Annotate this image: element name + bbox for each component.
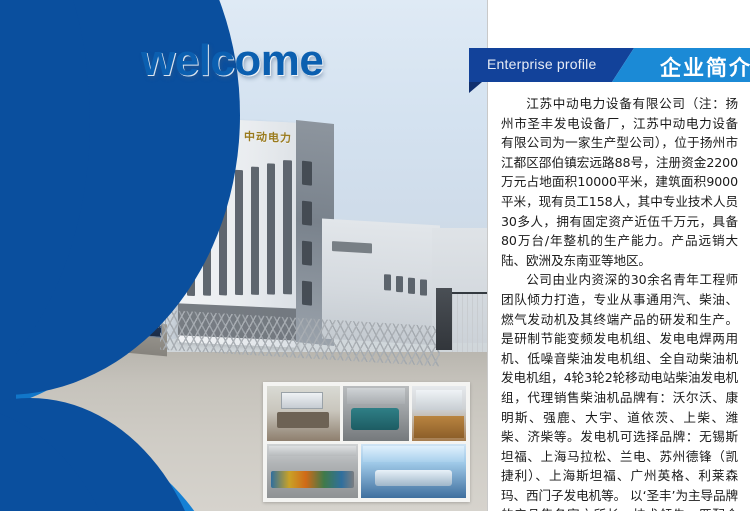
photo-collage	[263, 382, 470, 502]
generator-set-photo	[343, 386, 409, 441]
gate-post	[436, 288, 452, 350]
tab-enterprise-profile-en[interactable]: Enterprise profile	[469, 48, 634, 82]
gate-grid	[452, 292, 487, 352]
profile-paragraph-2: 公司由业内资深的30余名青年工程师团队倾力打造，专业从事通用汽、柴油、燃气发动机…	[501, 270, 738, 511]
welcome-headline: welcome	[141, 36, 323, 86]
conference-room-photo	[361, 444, 466, 498]
section-header-tab: Enterprise profile 企业简介	[469, 48, 750, 82]
profile-paragraph-1: 江苏中动电力设备有限公司（注：扬州市圣丰发电设备厂，江苏中动电力设备有限公司为一…	[501, 94, 738, 270]
page-root: 中动电力 江苏中动电力设备有限公司 Jiangsu Zhongdong Powe…	[0, 0, 750, 511]
tab-label-cn: 企业简介	[660, 52, 750, 82]
enterprise-profile-panel: Enterprise profile 企业简介 江苏中动电力设备有限公司（注：扬…	[487, 0, 750, 511]
tab-enterprise-profile-cn[interactable]: 企业简介	[612, 48, 750, 82]
company-profile-text: 江苏中动电力设备有限公司（注：扬州市圣丰发电设备厂，江苏中动电力设备有限公司为一…	[501, 94, 738, 511]
collage-row-top	[267, 386, 466, 441]
left-banner-panel: 中动电力 江苏中动电力设备有限公司 Jiangsu Zhongdong Powe…	[0, 0, 487, 511]
workshop-generators-photo	[267, 444, 358, 498]
tab-label-en: Enterprise profile	[487, 56, 596, 72]
office-meeting-photo	[267, 386, 340, 441]
collage-row-bottom	[267, 444, 466, 498]
reception-area-photo	[412, 386, 466, 441]
roof-sign-text: 中动电力	[244, 128, 292, 146]
